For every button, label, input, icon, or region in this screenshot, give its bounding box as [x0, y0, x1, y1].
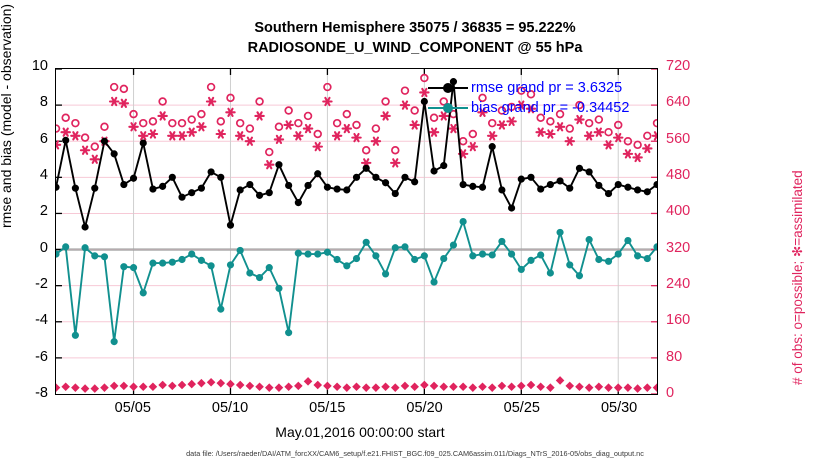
- obs-rejected-marker: [304, 378, 311, 385]
- obs-possible-marker: [72, 120, 79, 127]
- obs-rejected-marker: [566, 382, 573, 389]
- series-point: [140, 140, 146, 146]
- obs-possible-marker: [237, 120, 244, 127]
- series-point: [92, 185, 98, 191]
- series-point: [615, 181, 621, 187]
- series-point: [189, 251, 195, 257]
- series-point: [625, 184, 631, 190]
- obs-rejected-marker: [479, 383, 486, 390]
- data-file-footnote: data file: /Users/raeder/DAI/ATM_forcXX/…: [0, 449, 830, 458]
- series-point: [547, 181, 553, 187]
- x-tick-label: 05/20: [406, 400, 442, 416]
- series-point: [353, 256, 359, 262]
- series-point: [334, 256, 340, 262]
- legend-swatch-bias: [428, 101, 468, 115]
- series-point: [470, 253, 476, 259]
- series-point: [567, 262, 573, 268]
- y-axis-right-label: # of obs: o=possible; ✻=assimilated: [790, 170, 806, 385]
- series-point: [412, 179, 418, 185]
- series-point: [470, 183, 476, 189]
- obs-possible-marker: [276, 123, 283, 130]
- series-point: [518, 176, 524, 182]
- series-line: [56, 222, 657, 342]
- series-point: [654, 244, 657, 250]
- series-point: [150, 186, 156, 192]
- obs-rejected-marker: [120, 382, 127, 389]
- series-point: [605, 258, 611, 264]
- obs-possible-marker: [363, 147, 370, 154]
- series-point: [169, 174, 175, 180]
- series-point: [460, 218, 466, 224]
- obs-rejected-marker: [159, 381, 166, 388]
- series-point: [596, 256, 602, 262]
- series-point: [121, 181, 127, 187]
- obs-rejected-marker: [382, 383, 389, 390]
- obs-rejected-marker: [227, 380, 234, 387]
- y-tick-label-right: 160: [666, 312, 690, 328]
- obs-rejected-marker: [556, 377, 563, 384]
- series-point: [179, 194, 185, 200]
- series-point: [169, 259, 175, 265]
- obs-rejected-marker: [334, 383, 341, 390]
- vertical-gridlines: [134, 69, 619, 394]
- obs-rejected-marker: [518, 382, 525, 389]
- obs-rejected-marker: [208, 379, 215, 386]
- y-axis-left-label: rmse and bias (model - observation): [0, 4, 14, 228]
- obs-rejected-marker: [266, 384, 273, 391]
- obs-rejected-marker: [372, 384, 379, 391]
- series-point: [63, 244, 69, 250]
- series-point: [412, 256, 418, 262]
- y-tick-label-right: 720: [666, 58, 690, 74]
- obs-possible-marker: [179, 120, 186, 127]
- series-point: [382, 180, 388, 186]
- obs-rejected-marker: [615, 384, 622, 391]
- x-tick-label: 05/30: [601, 400, 637, 416]
- obs-rejected-marker: [469, 384, 476, 391]
- obs-possible-marker: [382, 98, 389, 105]
- obs-possible-marker: [343, 111, 350, 118]
- series-point: [150, 260, 156, 266]
- obs-possible-marker: [56, 125, 59, 132]
- series-point: [586, 169, 592, 175]
- obs-possible-marker: [314, 131, 321, 138]
- y-tick-label-left: 6: [6, 131, 48, 147]
- series-point: [160, 260, 166, 266]
- obs-rejected-marker: [527, 381, 534, 388]
- series-point: [305, 251, 311, 257]
- obs-rejected-marker: [460, 383, 467, 390]
- plot-area[interactable]: [55, 68, 658, 395]
- obs-possible-marker: [266, 149, 273, 156]
- obs-possible-marker: [198, 111, 205, 118]
- series-point: [266, 265, 272, 271]
- series-point: [363, 165, 369, 171]
- series-point: [179, 256, 185, 262]
- series-point: [479, 184, 485, 190]
- y-tick-label-right: 0: [666, 385, 674, 401]
- x-tick-label: 05/25: [504, 400, 540, 416]
- series-point: [101, 138, 107, 144]
- obs-possible-marker: [402, 87, 409, 94]
- obs-rejected-marker: [101, 384, 108, 391]
- obs-possible-marker: [489, 120, 496, 127]
- obs-rejected-marker: [605, 384, 612, 391]
- plot-canvas: [56, 69, 657, 394]
- obs-rejected-marker: [508, 383, 515, 390]
- y-tick-label-right: 560: [666, 131, 690, 147]
- series-point: [256, 274, 262, 280]
- chart-title: Southern Hemisphere 35075 / 36835 = 95.2…: [0, 18, 830, 58]
- obs-rejected-marker: [149, 383, 156, 390]
- y-tick-label-left: 4: [6, 167, 48, 183]
- obs-possible-marker: [188, 116, 195, 123]
- series-point: [276, 285, 282, 291]
- series-point: [421, 253, 427, 259]
- obs-rejected-marker: [275, 384, 282, 391]
- y-tick-label-right: 240: [666, 276, 690, 292]
- title-line-1: Southern Hemisphere 35075 / 36835 = 95.2…: [0, 18, 830, 38]
- obs-rejected-marker: [72, 384, 79, 391]
- x-tick-label: 05/05: [115, 400, 151, 416]
- obs-rejected-marker: [111, 382, 118, 389]
- obs-possible-marker: [111, 84, 118, 91]
- x-axis-label: May.01,2016 00:00:00 start: [0, 424, 720, 440]
- obs-possible-marker: [91, 143, 98, 150]
- obs-possible-marker: [256, 98, 263, 105]
- obs-rejected-marker: [295, 382, 302, 389]
- obs-possible-marker: [140, 120, 147, 127]
- y-tick-label-left: 10: [6, 58, 48, 74]
- series-point: [557, 229, 563, 235]
- series-point: [353, 174, 359, 180]
- obs-rejected-marker: [246, 382, 253, 389]
- series-point: [596, 182, 602, 188]
- obs-rejected-marker: [56, 384, 60, 391]
- series-point: [402, 174, 408, 180]
- series-point: [72, 332, 78, 338]
- series-rejectedbaseline: [56, 377, 657, 392]
- chart-legend: rmse grand pr = 3.6325 bias grand pr = -…: [428, 79, 629, 117]
- obs-possible-marker: [411, 107, 418, 114]
- obs-possible-marker: [469, 131, 476, 138]
- series-point: [198, 185, 204, 191]
- obs-rejected-marker: [130, 383, 137, 390]
- series-point: [334, 186, 340, 192]
- y-tick-label-left: -6: [6, 349, 48, 365]
- series-point: [130, 175, 136, 181]
- series-point: [101, 254, 107, 260]
- series-point: [315, 171, 321, 177]
- series-point: [208, 263, 214, 269]
- obs-rejected-marker: [256, 383, 263, 390]
- series-point: [635, 187, 641, 193]
- obs-possible-marker: [586, 120, 593, 127]
- obs-possible-marker: [372, 125, 379, 132]
- series-point: [605, 191, 611, 197]
- series-point: [528, 257, 534, 263]
- series-point: [576, 273, 582, 279]
- obs-rejected-marker: [353, 383, 360, 390]
- series-point: [92, 253, 98, 259]
- obs-rejected-marker: [62, 383, 69, 390]
- series-point: [402, 244, 408, 250]
- obs-possible-marker: [217, 118, 224, 125]
- obs-rejected-marker: [595, 383, 602, 390]
- obs-rejected-marker: [178, 381, 185, 388]
- series-point: [431, 279, 437, 285]
- obs-rejected-marker: [343, 384, 350, 391]
- series-point: [344, 263, 350, 269]
- obs-possible-marker: [644, 132, 651, 139]
- obs-possible-marker: [334, 120, 341, 127]
- legend-item-bias[interactable]: bias grand pr = -0.34452: [428, 99, 629, 117]
- obs-possible-marker: [82, 134, 89, 141]
- obs-rejected-marker: [140, 383, 147, 390]
- obs-possible-marker: [285, 107, 292, 114]
- obs-rejected-marker: [363, 384, 370, 391]
- obs-rejected-marker: [421, 381, 428, 388]
- series-point: [509, 205, 515, 211]
- y-tick-label-left: 0: [6, 240, 48, 256]
- obs-possible-marker: [246, 125, 253, 132]
- series-point: [373, 174, 379, 180]
- series-point: [518, 266, 524, 272]
- series-point: [208, 169, 214, 175]
- obs-rejected-marker: [217, 380, 224, 387]
- series-point: [460, 181, 466, 187]
- y-tick-label-left: -2: [6, 276, 48, 292]
- series-point: [295, 200, 301, 206]
- obs-possible-marker: [566, 125, 573, 132]
- obs-possible-marker: [295, 120, 302, 127]
- obs-rejected-marker: [489, 384, 496, 391]
- series-point: [247, 181, 253, 187]
- obs-possible-marker: [595, 116, 602, 123]
- series-point: [247, 270, 253, 276]
- series-point: [286, 330, 292, 336]
- series-point: [82, 224, 88, 230]
- series-point: [189, 190, 195, 196]
- series-point: [324, 184, 330, 190]
- obs-rejected-marker: [537, 383, 544, 390]
- obs-rejected-marker: [91, 385, 98, 392]
- series-point: [654, 181, 657, 187]
- series-point: [82, 245, 88, 251]
- series-point: [72, 185, 78, 191]
- series-point: [315, 251, 321, 257]
- series-point: [625, 237, 631, 243]
- x-tick-marks: [134, 69, 619, 394]
- series-point: [160, 183, 166, 189]
- series-point: [324, 249, 330, 255]
- obs-possible-marker: [654, 120, 657, 127]
- series-point: [218, 306, 224, 312]
- obs-rejected-marker: [634, 385, 641, 392]
- obs-possible-marker: [353, 122, 360, 129]
- series-point: [528, 174, 534, 180]
- obs-possible-marker: [120, 85, 127, 92]
- series-point: [363, 239, 369, 245]
- series-point: [392, 191, 398, 197]
- series-point: [111, 151, 117, 157]
- series-point: [644, 256, 650, 262]
- series-point: [499, 187, 505, 193]
- obs-possible-marker: [605, 129, 612, 136]
- series-point: [266, 190, 272, 196]
- series-point: [644, 189, 650, 195]
- legend-label-bias: bias grand pr = -0.34452: [471, 100, 629, 116]
- series-point: [489, 252, 495, 258]
- series-point: [567, 185, 573, 191]
- series-point: [305, 182, 311, 188]
- y-tick-label-left: -8: [6, 385, 48, 401]
- series-point: [198, 257, 204, 263]
- obs-rejected-marker: [586, 384, 593, 391]
- series-point: [237, 187, 243, 193]
- y-tick-marks-right: [651, 69, 657, 394]
- obs-rejected-marker: [401, 382, 408, 389]
- series-point: [286, 182, 292, 188]
- obs-rejected-marker: [653, 384, 657, 391]
- obs-rejected-marker: [285, 383, 292, 390]
- obs-rejected-marker: [237, 381, 244, 388]
- title-line-2: RADIOSONDE_U_WIND_COMPONENT @ 55 hPa: [0, 38, 830, 58]
- obs-rejected-marker: [188, 380, 195, 387]
- legend-item-rmse[interactable]: rmse grand pr = 3.6325: [428, 79, 629, 97]
- series-point: [538, 252, 544, 258]
- y-tick-label-right: 320: [666, 240, 690, 256]
- obs-possible-marker: [305, 113, 312, 120]
- obs-rejected-marker: [430, 382, 437, 389]
- obs-possible-marker: [159, 98, 166, 105]
- obs-rejected-marker: [411, 383, 418, 390]
- series-point: [538, 186, 544, 192]
- x-tick-label: 05/10: [212, 400, 248, 416]
- series-point: [227, 222, 233, 228]
- obs-possible-marker: [101, 123, 108, 130]
- obs-possible-marker: [208, 84, 215, 91]
- series-point: [227, 262, 233, 268]
- obs-possible-marker: [62, 114, 69, 121]
- series-point: [392, 245, 398, 251]
- series-point: [121, 264, 127, 270]
- series-point: [499, 238, 505, 244]
- series-point: [547, 270, 553, 276]
- series-point: [111, 339, 117, 345]
- obs-possible-marker: [547, 118, 554, 125]
- series-point: [56, 251, 59, 257]
- y-tick-marks-left: [56, 69, 62, 358]
- obs-rejected-marker: [624, 384, 631, 391]
- obs-rejected-marker: [198, 380, 205, 387]
- y-tick-label-left: 2: [6, 203, 48, 219]
- series-point: [635, 253, 641, 259]
- obs-possible-marker: [150, 118, 157, 125]
- obs-rejected-marker: [576, 383, 583, 390]
- obs-rejected-marker: [547, 384, 554, 391]
- series-point: [237, 247, 243, 253]
- series-point: [586, 237, 592, 243]
- series-point: [130, 265, 136, 271]
- obs-possible-marker: [169, 120, 176, 127]
- y-tick-label-left: -4: [6, 312, 48, 328]
- series-point: [344, 187, 350, 193]
- obs-rejected-marker: [450, 383, 457, 390]
- series-point: [276, 162, 282, 168]
- obs-rejected-marker: [169, 382, 176, 389]
- obs-rejected-marker: [440, 383, 447, 390]
- series-point: [450, 242, 456, 248]
- series-point: [431, 168, 437, 174]
- y-tick-label-right: 480: [666, 167, 690, 183]
- series-point: [557, 178, 563, 184]
- series-bias: [56, 218, 657, 344]
- obs-rejected-marker: [392, 384, 399, 391]
- obs-rejected-marker: [324, 382, 331, 389]
- obs-rejected-marker: [498, 382, 505, 389]
- series-point: [489, 144, 495, 150]
- series-point: [256, 192, 262, 198]
- series-point: [140, 290, 146, 296]
- y-tick-label-right: 640: [666, 94, 690, 110]
- obs-possible-marker: [392, 147, 399, 154]
- series-point: [479, 251, 485, 257]
- series-point: [218, 174, 224, 180]
- series-point: [382, 271, 388, 277]
- x-tick-label: 05/15: [309, 400, 345, 416]
- series-point: [373, 253, 379, 259]
- obs-rejected-marker: [81, 385, 88, 392]
- obs-possible-marker: [634, 141, 641, 148]
- legend-swatch-rmse: [428, 81, 468, 95]
- legend-label-rmse: rmse grand pr = 3.6325: [471, 80, 622, 96]
- series-point: [576, 165, 582, 171]
- obs-rejected-marker: [314, 381, 321, 388]
- obs-rejected-marker: [644, 384, 651, 391]
- series-point: [509, 251, 515, 257]
- y-tick-label-right: 80: [666, 349, 682, 365]
- series-point: [615, 251, 621, 257]
- y-tick-label-left: 8: [6, 94, 48, 110]
- series-point: [441, 256, 447, 262]
- y-tick-label-right: 400: [666, 203, 690, 219]
- series-point: [295, 250, 301, 256]
- series-point: [63, 137, 69, 143]
- series-point: [56, 184, 59, 190]
- figure-root: Southern Hemisphere 35075 / 36835 = 95.2…: [0, 0, 830, 470]
- series-point: [441, 163, 447, 169]
- series-point: [421, 98, 427, 104]
